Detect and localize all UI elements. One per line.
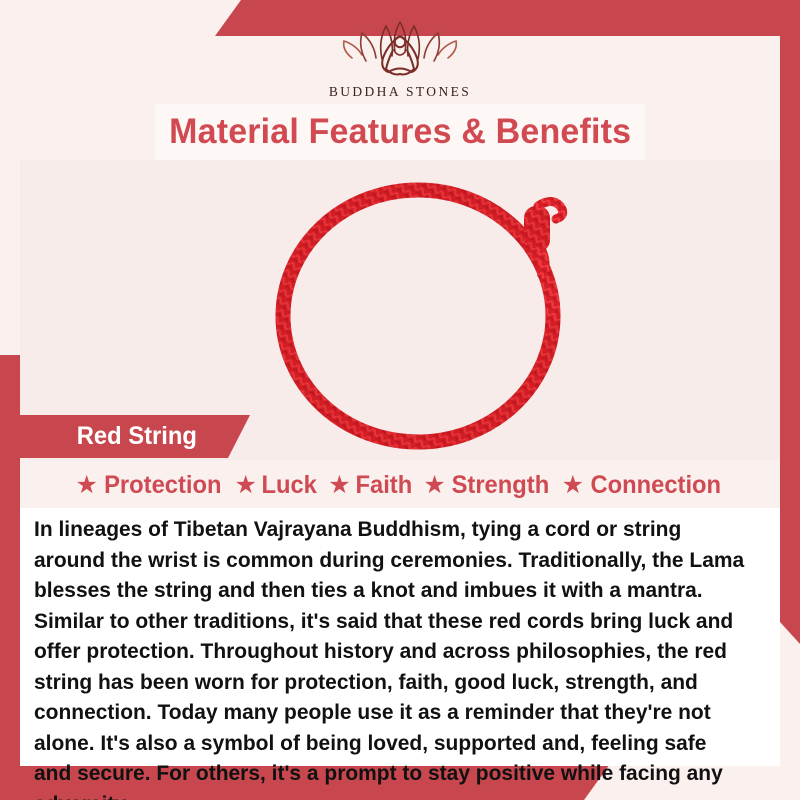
- feature-list: ★ Protection ★ Luck ★ Faith ★ Strength ★…: [20, 464, 780, 506]
- star-icon: ★: [423, 473, 445, 498]
- feature-label: Faith: [355, 471, 412, 500]
- star-icon: ★: [235, 473, 257, 498]
- brand-name: BUDDHA STONES: [329, 84, 471, 100]
- lotus-meditation-icon: [338, 14, 462, 82]
- feature-label: Strength: [451, 471, 549, 500]
- feature-label: Protection: [104, 471, 221, 500]
- feature-label: Luck: [261, 471, 316, 500]
- brand-logo: BUDDHA STONES: [0, 14, 800, 100]
- feature-item-faith: ★ Faith: [328, 471, 413, 500]
- feature-item-strength: ★ Strength: [423, 471, 551, 500]
- red-string-bracelet-image: [250, 164, 610, 454]
- star-icon: ★: [328, 473, 350, 498]
- decorative-left-bar: [0, 355, 20, 765]
- page-title-panel: Material Features & Benefits: [155, 104, 645, 160]
- material-label: Red String: [25, 422, 197, 451]
- page-title: Material Features & Benefits: [169, 112, 631, 152]
- material-label-banner: Red String: [20, 415, 250, 458]
- description-panel: In lineages of Tibetan Vajrayana Buddhis…: [20, 508, 780, 766]
- star-icon: ★: [562, 473, 584, 498]
- infographic-page: BUDDHA STONES Material Features & Benefi…: [0, 0, 800, 800]
- feature-item-connection: ★ Connection: [562, 471, 725, 500]
- feature-label: Connection: [590, 471, 721, 500]
- feature-item-protection: ★ Protection: [75, 471, 224, 500]
- feature-item-luck: ★ Luck: [235, 471, 319, 500]
- description-text: In lineages of Tibetan Vajrayana Buddhis…: [34, 514, 748, 800]
- star-icon: ★: [75, 473, 97, 498]
- decorative-right-bar: [780, 36, 800, 644]
